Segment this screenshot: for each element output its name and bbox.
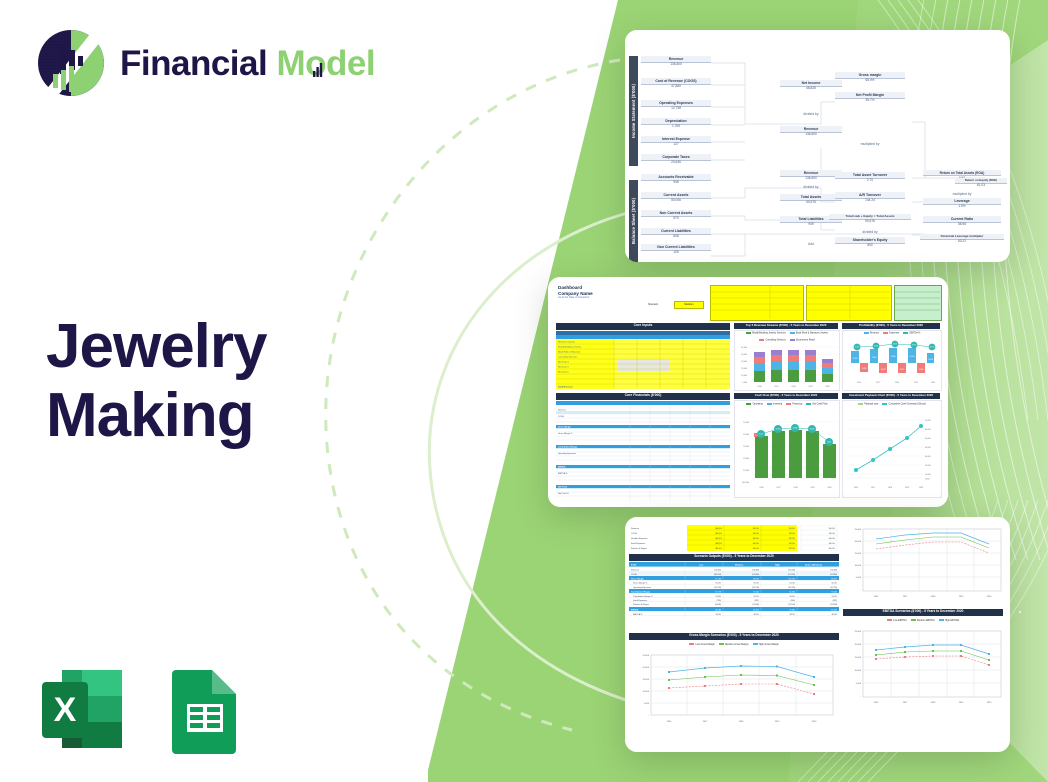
svg-text:2016: 2016 (667, 721, 672, 723)
svg-text:100.0%: 100.0% (753, 543, 760, 545)
svg-text:20,000: 20,000 (643, 667, 650, 669)
svg-text:Contribution Margin: Contribution Margin (631, 590, 651, 593)
node-gross-margin: Gross margin65.0% (835, 72, 905, 83)
svg-text:20,000: 20,000 (741, 368, 747, 370)
svg-text:10,000: 10,000 (741, 375, 747, 377)
svg-text:2018: 2018 (895, 382, 899, 384)
svg-text:2018: 2018 (888, 487, 892, 489)
svg-text:2016: 2016 (874, 702, 879, 704)
operator-multiplied-by-1: multiplied by (835, 142, 905, 146)
legend-medium-ebitda: Medium EBITDA (911, 619, 935, 622)
svg-text:10,733: 10,733 (793, 428, 798, 430)
svg-text:(840): (840) (791, 600, 796, 602)
svg-text:100.0%: 100.0% (753, 533, 760, 535)
chart-revenue-scenarios-plot: 25,00020,000 15,00010,000 5,000- 2016201… (843, 525, 1003, 607)
svg-text:(47,880): (47,880) (830, 574, 837, 576)
node-current-assets: Current Assets50,006 (641, 192, 711, 203)
svg-text:20,000: 20,000 (743, 458, 749, 460)
svg-text:2020: 2020 (827, 487, 831, 489)
svg-text:100.0%: 100.0% (753, 538, 760, 540)
google-sheets-icon[interactable] (158, 664, 250, 756)
node-current-liabilities: Current Liabilities848 (641, 228, 711, 239)
svg-text:52.8%: 52.8% (716, 596, 722, 598)
svg-text:2017: 2017 (903, 702, 908, 704)
legend-high-ebitda: High EBITDA (939, 619, 959, 622)
svg-text:50,000: 50,000 (925, 438, 931, 440)
legend-high-gross-margin: High Gross Margin (753, 643, 779, 646)
chart-top5-revenue-title: Top 5 Revenue Streams ($'000) - 5 Years … (734, 323, 838, 329)
svg-text:(837): (837) (755, 600, 760, 602)
svg-text:55.2%: 55.2% (754, 596, 760, 598)
svg-text:75,562: 75,562 (753, 591, 759, 593)
svg-text:2017: 2017 (903, 596, 908, 598)
svg-text:2020: 2020 (931, 382, 935, 384)
brand-wordmark: Financial Mo del (120, 46, 375, 81)
chart-profitability-title: Profitability ($'000) - 5 Years to Decem… (842, 323, 940, 329)
svg-text:Total Revenue: Total Revenue (558, 386, 574, 389)
microsoft-excel-icon[interactable]: X (36, 664, 128, 756)
svg-text:2019: 2019 (905, 487, 909, 489)
node-revenue-2: Revenue136,800 (780, 126, 842, 137)
svg-text:120.0%: 120.0% (789, 528, 796, 530)
svg-text:46.0%: 46.0% (832, 614, 838, 616)
node-total-liab-equity: Total Liab + Equity = Total Assets50,576 (829, 214, 911, 224)
core-inputs-table[interactable]: Revenue streams Bridal/Wedding Jewelry B… (556, 331, 730, 389)
brand-word-model-o: o (305, 46, 326, 81)
node-accounts-receivable: Accounts Receivable948 (641, 174, 711, 185)
svg-text:79,694: 79,694 (789, 609, 795, 611)
svg-text:EBITDA: EBITDA (558, 465, 566, 468)
svg-text:10,000: 10,000 (643, 691, 650, 693)
svg-text:2020: 2020 (987, 596, 992, 598)
svg-text:100.0%: 100.0% (753, 528, 760, 530)
svg-text:EBITDA %: EBITDA % (558, 472, 568, 475)
svg-text:62,925: 62,925 (753, 609, 759, 611)
legend-item-ebitda-pct: EBITDA % (903, 332, 920, 335)
svg-text:50,000: 50,000 (743, 422, 749, 424)
svg-text:Bridal/Wedding Jewelry: Bridal/Wedding Jewelry (558, 346, 582, 349)
dashboard-header: Dashboard Company Name As at the Date of… (558, 285, 593, 300)
operator-add: Add (780, 242, 842, 246)
legend-item-operating: Operating (746, 403, 762, 406)
svg-text:Consulting Services: Consulting Services (558, 356, 578, 359)
svg-text:88,920: 88,920 (753, 578, 759, 580)
node-non-current-assets: Non Current Assets570 (641, 210, 711, 221)
svg-text:2017: 2017 (876, 382, 880, 384)
svg-text:25,000: 25,000 (643, 655, 650, 657)
svg-text:60,000: 60,000 (925, 429, 931, 431)
svg-text:25,000: 25,000 (855, 631, 862, 633)
svg-text:25,000: 25,000 (855, 529, 862, 531)
svg-text:(12,758): (12,758) (830, 587, 837, 589)
svg-text:2016: 2016 (757, 386, 761, 388)
svg-text:15,000: 15,000 (643, 679, 650, 681)
svg-text:109,440: 109,440 (714, 570, 721, 572)
brand-word-model-del: del (326, 44, 375, 83)
svg-text:8,120: 8,120 (759, 434, 763, 436)
screenshot-card-dashboard[interactable]: Dashboard Company Name As at the Date of… (548, 277, 948, 507)
legend-item-payback-year: Payback year (858, 403, 878, 406)
svg-text:2020: 2020 (919, 487, 923, 489)
svg-text:25,466: 25,466 (891, 356, 896, 358)
svg-text:Fixed Expenses: Fixed Expenses (633, 600, 647, 602)
section-core-inputs-title: Core Inputs (556, 323, 730, 330)
svg-text:Salaries & Wages: Salaries & Wages (631, 548, 647, 550)
svg-text:10,000: 10,000 (855, 670, 862, 672)
svg-text:Contribution Margin %: Contribution Margin % (633, 595, 653, 598)
svg-text:15,000: 15,000 (855, 657, 862, 659)
svg-text:2018: 2018 (739, 721, 744, 723)
legend-item-net-cash-flow: Net Cash Flow (806, 403, 827, 406)
svg-text:136,800: 136,800 (752, 570, 759, 572)
svg-text:100.0%: 100.0% (829, 533, 836, 535)
svg-text:48,184: 48,184 (715, 609, 721, 611)
svg-text:100.0%: 100.0% (829, 528, 836, 530)
svg-text:20,000: 20,000 (855, 644, 862, 646)
svg-text:48.5%: 48.5% (790, 614, 796, 616)
chart-profitability[interactable]: Revenue Expenses EBITDA % (842, 330, 942, 391)
svg-text:2019: 2019 (959, 596, 964, 598)
svg-text:2020: 2020 (812, 721, 817, 723)
node-net-income: Net Income48,828 (780, 80, 842, 91)
svg-text:2016: 2016 (854, 487, 858, 489)
svg-text:COGS: COGS (631, 574, 638, 576)
chart-investment-payback-plot: 70,00060,000 50,00040,000 30,00020,000 1… (843, 412, 941, 496)
svg-text:10,000: 10,000 (925, 474, 931, 476)
chart-gross-margin-plot: 25,00020,000 15,00010,000 5,000- (629, 651, 839, 733)
svg-text:(12,758): (12,758) (752, 587, 759, 589)
chart-gross-margin-scenarios-title: Gross Margin Scenarios ($'000) - 5 Years… (629, 633, 839, 640)
chart-top5-revenue-plot: 45,00040,000 30,00020,000 10,0005,000 (735, 341, 839, 389)
svg-text:120.0%: 120.0% (789, 548, 796, 550)
svg-text:Bead Work & Macrame: Bead Work & Macrame (558, 351, 581, 354)
chart-investment-payback[interactable]: Payback year Cumulative Cash Generated (… (842, 400, 942, 498)
svg-text:-: - (860, 696, 861, 698)
svg-text:15,000: 15,000 (855, 553, 862, 555)
chart-ebitda-scenarios[interactable]: Low EBITDA Medium EBITDA High EBITDA 25,… (843, 617, 1003, 735)
node-total-assets: Total Assets50,576 (780, 194, 842, 205)
svg-text:Low: Low (699, 565, 704, 567)
svg-text:5,000: 5,000 (856, 683, 862, 685)
page-title-line2: Making (46, 381, 267, 450)
svg-text:26,143: 26,143 (910, 356, 915, 358)
svg-text:106,704: 106,704 (788, 578, 795, 580)
svg-text:Revenue 4: Revenue 4 (558, 362, 569, 364)
svg-text:2016: 2016 (874, 596, 879, 598)
legend-item-expenses: Expenses (883, 332, 899, 335)
svg-text:100.0%: 100.0% (753, 548, 760, 550)
page-title-line1: Jewelry (46, 312, 267, 381)
svg-text:2017: 2017 (774, 386, 778, 388)
svg-text:2020: 2020 (987, 702, 992, 704)
svg-text:Gross Margin %: Gross Margin % (633, 583, 648, 585)
svg-text:Gross Margin %: Gross Margin % (558, 433, 573, 435)
svg-text:COGS: COGS (558, 416, 565, 418)
node-leverage: Leverage1.9% (923, 198, 1001, 209)
svg-text:13,280: 13,280 (862, 368, 867, 370)
svg-text:5,000: 5,000 (925, 479, 930, 481)
svg-text:100.0%: 100.0% (829, 538, 836, 540)
svg-text:30,000: 30,000 (743, 446, 749, 448)
driver-tree: Income Statement ($'000) Balance Sheet (… (625, 30, 1010, 262)
chart-gross-margin-scenarios[interactable]: Low Gross Margin Medium Gross Margin Hig… (629, 641, 839, 735)
svg-text:(8,808): (8,808) (715, 604, 721, 606)
svg-text:X: X (54, 691, 77, 729)
screenshot-card-scenarios[interactable]: RevenueCOGS Variable ExpensesFixed Expen… (625, 517, 1010, 752)
brand-logo[interactable]: Financial Mo del (38, 30, 375, 96)
svg-text:2016: 2016 (857, 382, 861, 384)
svg-text:Operating Expenses: Operating Expenses (558, 452, 576, 455)
svg-text:30,000: 30,000 (925, 456, 931, 458)
svg-text:(38,304): (38,304) (714, 574, 721, 576)
svg-text:56.4%: 56.4% (790, 596, 796, 598)
svg-text:2019: 2019 (959, 702, 964, 704)
svg-text:EBITDA: EBITDA (631, 608, 639, 611)
svg-text:2019: 2019 (808, 386, 812, 388)
svg-text:88,920: 88,920 (831, 578, 837, 580)
svg-text:-: - (860, 589, 861, 591)
screenshot-card-statement-tree[interactable]: Income Statement ($'000) Balance Sheet (… (625, 30, 1010, 262)
svg-text:Medium: Medium (735, 565, 743, 567)
svg-text:23,090: 23,090 (872, 357, 877, 359)
svg-text:Revenue: Revenue (631, 570, 640, 572)
svg-text:2018: 2018 (931, 702, 936, 704)
svg-text:120.0%: 120.0% (789, 533, 796, 535)
page-title: Jewelry Making (46, 312, 267, 451)
svg-text:(837): (837) (833, 600, 838, 602)
svg-text:Gross Margin: Gross Margin (631, 578, 645, 580)
svg-text:2018: 2018 (931, 596, 936, 598)
svg-text:120.0%: 120.0% (789, 543, 796, 545)
svg-text:31.0%: 31.0% (874, 346, 879, 348)
svg-text:COGS: COGS (631, 533, 638, 535)
svg-text:2017: 2017 (776, 487, 780, 489)
scenario-outputs-table[interactable]: $'000 LowMedium HighActive (Medium) Reve… (629, 562, 839, 618)
operator-divided-by-3: divided by (835, 230, 905, 234)
svg-text:(80.0)%: (80.0)% (715, 538, 722, 540)
brand-word-financial: Financial (120, 44, 267, 83)
svg-text:Active (Medium): Active (Medium) (805, 564, 822, 567)
svg-text:Revenue streams: Revenue streams (558, 341, 576, 344)
svg-text:37.4%: 37.4% (855, 347, 860, 349)
dashboard-subtitle: As at the Date of Construct (558, 296, 593, 299)
svg-text:(11,800): (11,800) (752, 604, 759, 606)
scenario-sheet: RevenueCOGS Variable ExpensesFixed Expen… (629, 521, 1006, 748)
svg-text:2019: 2019 (775, 721, 780, 723)
logo-o-bars-icon (313, 63, 323, 77)
svg-text:2017: 2017 (871, 487, 875, 489)
svg-text:55.2%: 55.2% (832, 596, 838, 598)
node-operating-expenses: Operating Expenses12,758 (641, 100, 711, 111)
legend-item-revenue: Revenue (864, 332, 879, 335)
svg-text:40.1%: 40.1% (893, 344, 898, 346)
balance-sheet-band: Balance Sheet ($'000) (629, 180, 638, 262)
svg-text:15,255: 15,255 (900, 369, 905, 371)
node-revenue: Revenue136,800 (641, 56, 711, 67)
svg-text:Revenue: Revenue (631, 528, 640, 530)
svg-text:-: - (648, 715, 649, 717)
svg-text:15,930: 15,930 (881, 369, 886, 371)
svg-text:2020: 2020 (825, 386, 829, 388)
legend-item-1: Bead Work & Macrame Jewelry (790, 332, 828, 335)
svg-text:(10,000): (10,000) (742, 482, 749, 484)
svg-text:2016: 2016 (759, 487, 763, 489)
svg-text:6,203: 6,203 (827, 442, 831, 444)
legend-item-0: Bridal/Wedding Jewelry Services (746, 332, 786, 335)
svg-text:(80.0)%: (80.0)% (715, 528, 722, 530)
node-total-asset-turnover: Total Asset Turnover2.70 (835, 172, 905, 183)
file-format-icons: X (36, 664, 250, 756)
chart-revenue-scenarios[interactable]: 25,00020,000 15,00010,000 5,000- 2016201… (843, 525, 1003, 607)
svg-text:Revenue 5: Revenue 5 (558, 367, 569, 369)
node-current-ratio: Current Ratio58.98 (923, 216, 1001, 227)
node-interest-expense: Interest Expense127 (641, 136, 711, 147)
svg-text:(12,100): (12,100) (788, 604, 795, 606)
svg-text:75,562: 75,562 (831, 591, 837, 593)
chart-ebitda-plot: 25,00020,000 15,00010,000 5,000- (843, 627, 1003, 733)
svg-text:65.0%: 65.0% (832, 583, 838, 585)
node-shareholders-equity: Shareholder's Equity800 (835, 237, 905, 248)
svg-text:5,000: 5,000 (742, 382, 747, 384)
brand-word-model-m: M (276, 44, 305, 83)
svg-text:(47,880): (47,880) (752, 574, 759, 576)
chart-cash-flow-plot: 50,00040,000 30,00020,000 10,000(10,000) (735, 412, 839, 496)
svg-text:40,000: 40,000 (925, 447, 931, 449)
svg-text:(786): (786) (717, 600, 722, 602)
svg-text:(11,800): (11,800) (830, 604, 837, 606)
svg-text:39.2%: 39.2% (912, 345, 917, 347)
svg-text:44.0%: 44.0% (716, 614, 722, 616)
chart-profitability-plot: 37.4%31.0% 40.1%39.2% 35.7% 21,20013,280… (843, 339, 941, 387)
svg-text:92,634: 92,634 (789, 591, 795, 593)
svg-text:45,000: 45,000 (741, 347, 747, 349)
svg-text:$'000: $'000 (631, 565, 637, 567)
node-cogs: Cost of Revenue (COGS)47,880 (641, 78, 711, 89)
operator-multiplied-by-2: multiplied by (923, 192, 1001, 196)
svg-text:46.0%: 46.0% (754, 614, 760, 616)
svg-text:65.0%: 65.0% (790, 583, 796, 585)
core-financials-table[interactable]: Revenue COGS Gross Margin Gross Margin %… (556, 401, 730, 501)
svg-text:(57,456): (57,456) (788, 574, 795, 576)
svg-text:65.0%: 65.0% (754, 583, 760, 585)
node-ar-turnover: A/R Turnover144.24 (835, 192, 905, 203)
section-scenario-outputs-title: Scenario Outputs ($'000) - 5 Years to De… (629, 554, 839, 561)
svg-text:20,000: 20,000 (925, 465, 931, 467)
svg-text:57,778: 57,778 (715, 591, 721, 593)
svg-text:10,000: 10,000 (743, 470, 749, 472)
svg-text:2018: 2018 (793, 487, 797, 489)
slide-canvas: Financial Mo del Jewelry Making (0, 0, 1048, 782)
svg-text:40,000: 40,000 (743, 434, 749, 436)
svg-text:10,166: 10,166 (810, 429, 815, 431)
node-non-current-liabilities: Non Current Liabilities105 (641, 244, 711, 255)
svg-text:Contribution Margin: Contribution Margin (558, 445, 578, 448)
node-return-on-equity: Return on Equity (ROE)61.03 (955, 178, 1007, 188)
svg-text:20,000: 20,000 (855, 541, 862, 543)
svg-text:Gross Margin: Gross Margin (558, 426, 572, 428)
svg-text:EBITDA %: EBITDA % (633, 613, 643, 616)
svg-text:18,108: 18,108 (928, 359, 933, 361)
svg-text:(80.0)%: (80.0)% (715, 543, 722, 545)
svg-text:2019: 2019 (810, 487, 814, 489)
node-financial-leverage-multiplier: Financial Leverage multiplier63.22 (920, 234, 1004, 244)
svg-text:Operating Expenses: Operating Expenses (633, 586, 651, 589)
panel-gridlines (710, 285, 942, 319)
legend-item-financing: Financing (786, 403, 802, 406)
svg-text:Variable Expenses: Variable Expenses (631, 538, 648, 540)
svg-text:100.0%: 100.0% (829, 543, 836, 545)
svg-text:10,000: 10,000 (855, 565, 862, 567)
svg-text:70,000: 70,000 (925, 420, 931, 422)
svg-text:5,000: 5,000 (856, 577, 862, 579)
chart-investment-payback-title: Investment Payback Chart ($'000) - 5 Yea… (842, 393, 940, 399)
svg-text:Revenue: Revenue (558, 410, 567, 412)
svg-text:21,200: 21,200 (853, 358, 858, 360)
legend-medium-gross-margin: Medium Gross Margin (719, 643, 749, 646)
node-net-profit-margin: Net Profit Margin35.7% (835, 92, 905, 103)
svg-text:5,000: 5,000 (644, 703, 650, 705)
chart-cash-flow[interactable]: Operating Investing Financing Net Cash F… (734, 400, 840, 498)
svg-text:High: High (775, 565, 781, 567)
svg-text:2017: 2017 (703, 721, 708, 723)
svg-text:71,136: 71,136 (715, 578, 721, 580)
svg-text:35.7%: 35.7% (930, 347, 935, 349)
svg-text:2019: 2019 (914, 382, 918, 384)
svg-text:(80.0)%: (80.0)% (715, 533, 722, 535)
section-core-financials-title: Core Financials ($'000) (556, 393, 730, 400)
chart-cash-flow-title: Cash Flow ($'000) - 5 Years to December … (734, 393, 838, 399)
pie-bars-logo-icon (38, 30, 104, 96)
svg-text:62,925: 62,925 (831, 609, 837, 611)
svg-text:100.0%: 100.0% (829, 548, 836, 550)
legend-item-cumulative-cash: Cumulative Cash Generated (Gross) (882, 403, 925, 406)
scenario-toggle-label: Scenario (648, 303, 658, 306)
income-statement-band: Income Statement ($'000) (629, 56, 638, 166)
operator-divided-by-2: divided by (780, 185, 842, 189)
legend-low-gross-margin: Low Gross Margin (689, 643, 715, 646)
svg-text:136,800: 136,800 (830, 570, 837, 572)
node-revenue-3: Revenue136,800 (780, 170, 842, 181)
svg-text:(80.0)%: (80.0)% (715, 548, 722, 550)
svg-text:Fixed Expenses: Fixed Expenses (631, 543, 645, 545)
svg-text:2018: 2018 (791, 386, 795, 388)
legend-item-investing: Investing (767, 403, 782, 406)
svg-text:Salaries & Wages: Salaries & Wages (633, 604, 649, 606)
svg-text:(12,758): (12,758) (788, 587, 795, 589)
chart-ebitda-scenarios-title: EBITDA Scenarios ($'000) - 5 Years to De… (843, 609, 1003, 616)
chart-top5-revenue[interactable]: Bridal/Wedding Jewelry Services Bead Wor… (734, 330, 840, 391)
svg-text:65.0%: 65.0% (716, 583, 722, 585)
svg-text:30,000: 30,000 (741, 361, 747, 363)
left-content-panel: Financial Mo del Jewelry Making (0, 0, 470, 782)
operator-divided-by-1: divided by (780, 112, 842, 116)
scenario-assumption-table[interactable]: RevenueCOGS Variable ExpensesFixed Expen… (629, 525, 839, 551)
svg-text:Net Profit: Net Profit (558, 485, 567, 488)
node-depreciation: Depreciation1,765 (641, 118, 711, 129)
scenario-toggle-value[interactable]: Medium (674, 301, 704, 309)
dashboard-sheet: Dashboard Company Name As at the Date of… (552, 281, 944, 503)
svg-text:120.0%: 120.0% (789, 538, 796, 540)
svg-text:Net Profit %: Net Profit % (558, 492, 569, 495)
svg-text:15,886: 15,886 (919, 369, 924, 371)
legend-low-ebitda: Low EBITDA (887, 619, 907, 622)
svg-text:Revenue 6: Revenue 6 (558, 372, 569, 374)
svg-text:40,000: 40,000 (741, 354, 747, 356)
svg-text:(12,758): (12,758) (714, 587, 721, 589)
svg-text:10,193: 10,193 (776, 429, 781, 431)
node-corporate-taxes: Corporate Taxes20,636 (641, 154, 711, 165)
svg-text:164,160: 164,160 (788, 570, 795, 572)
